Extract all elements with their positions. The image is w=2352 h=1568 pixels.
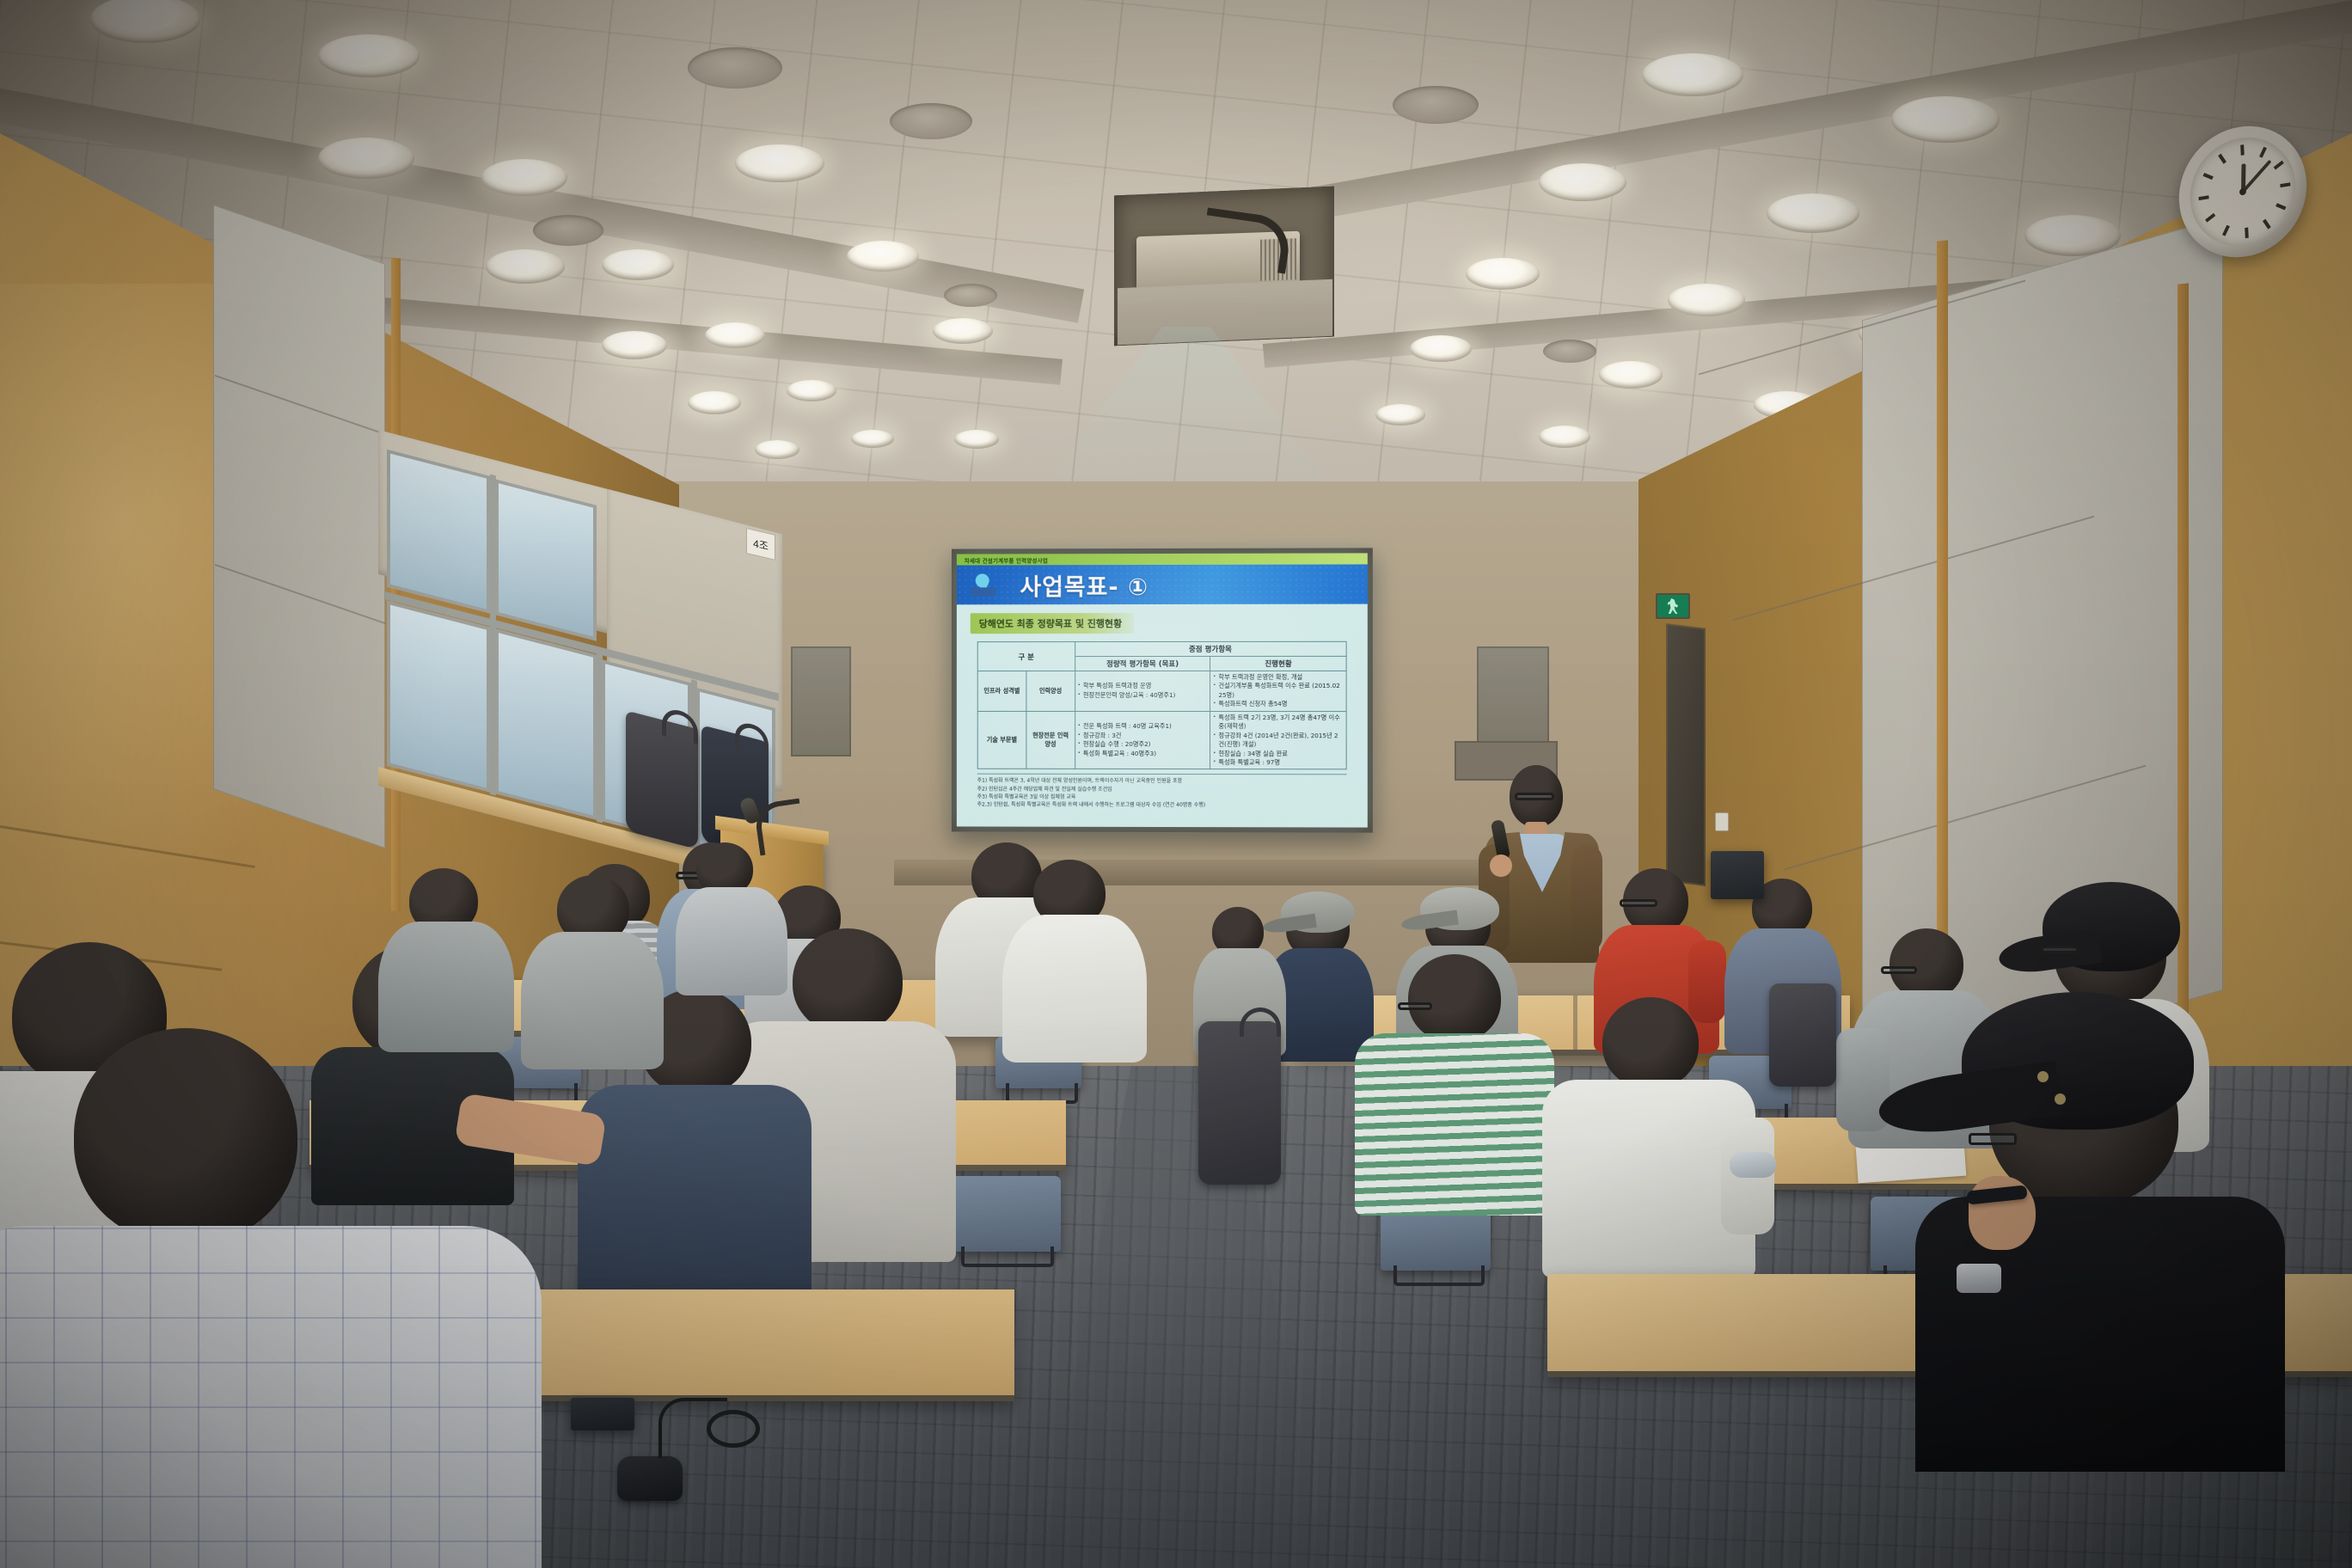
table-row: 기술 부문별 현장전문 인력 양성 전운 특성화 트랙 : 40명 교육주1) … [977, 711, 1346, 769]
backpack [626, 710, 698, 849]
head [74, 1028, 297, 1243]
slide-title-text: 사업목표- ① [1020, 568, 1148, 602]
torso [0, 1226, 542, 1568]
presenter-hand [1490, 854, 1512, 877]
row-subdivision: 인력양성 [1026, 671, 1075, 712]
excavator-logo-icon [967, 570, 1001, 599]
clock-tick [2245, 228, 2249, 239]
cap-eyelet [2055, 1093, 2066, 1105]
clock-tick [2275, 203, 2286, 210]
list-item: 학부 특성화 트랙과정 운영 [1078, 682, 1208, 690]
torso [1355, 1033, 1554, 1216]
clock-tick [2274, 161, 2284, 170]
clock-tick [2259, 147, 2267, 158]
acoustic-panel [791, 646, 851, 756]
row-division: 기술 부문별 [977, 711, 1026, 769]
downlight [954, 430, 999, 449]
row-quantitative: 전운 특성화 트랙 : 40명 교육주1) 정규강좌 : 3건 현장실습 수행 … [1075, 711, 1210, 769]
head [1408, 954, 1501, 1042]
backpack-on-chair [1769, 983, 1836, 1087]
snapback-cap-icon [2043, 882, 2180, 971]
left-wall-grey-panel [213, 205, 385, 848]
downlight [933, 318, 993, 344]
snapback-cap-icon [1962, 992, 2194, 1130]
row-progress: 학부 트랙과정 운영안 확정, 개설 건설기계부품 특성화트랙 이수 완료 (2… [1210, 671, 1346, 711]
audience-member-black-cap-front [1924, 982, 2285, 1463]
clock-face [2188, 130, 2299, 254]
slide-subtitle: 당해연도 최종 정량목표 및 진행현황 [971, 613, 1134, 634]
clock-tick [2240, 144, 2245, 156]
footnote: 주1) 특성화 트랙은 3, 4학년 대상 전체 양성인원이며, 트랙이수자가 … [977, 777, 1347, 786]
projector-access-panel [1118, 279, 1332, 345]
ceiling-speaker [1393, 86, 1479, 124]
clock-tick [2202, 173, 2213, 180]
clock-tick [2263, 219, 2271, 230]
torso [521, 932, 664, 1069]
list-item: 전운 특성화 트랙 : 40명 교육주1) [1078, 722, 1208, 732]
list-item: 특성화트랙 신청자 총54명 [1213, 700, 1343, 708]
mouse-cable [658, 1398, 727, 1458]
slide-ribbon-label: 차세대 건설기계부품 인력양성사업 [957, 555, 1048, 564]
table-header-top: 중점 평가항목 [1075, 641, 1346, 656]
list-item: 특성화 특별교육 : 97명 [1213, 758, 1343, 768]
slide-footnotes: 주1) 특성화 트랙은 3, 4학년 대상 전체 양성인원이며, 트랙이수자가 … [977, 774, 1347, 810]
row-subdivision: 현장전문 인력 양성 [1026, 711, 1075, 769]
torso [578, 1085, 812, 1315]
row-quantitative: 학부 특성화 트랙과정 운영 현장전문인력 양성/교육 : 40명주1) [1075, 671, 1210, 711]
list-item: 현장전문인력 양성/교육 : 40명주1) [1078, 691, 1208, 700]
clock-minute-hand [2242, 160, 2272, 193]
list-item: 특성화 트랙 2기 23명, 3기 24명 총47명 이수중(재학생) [1213, 714, 1343, 732]
slide-title-bar: 사업목표- ① [957, 564, 1368, 604]
window-mullion [490, 475, 496, 796]
slide-title-dot-pattern [957, 564, 1368, 604]
light-switch[interactable] [1715, 812, 1729, 831]
torso [378, 922, 514, 1052]
glasses [2041, 946, 2079, 953]
window-pane-upper-left [387, 450, 490, 614]
audience-member-green-striped [1346, 954, 1561, 1212]
glasses [1398, 1002, 1432, 1010]
window-pane-upper-mid [495, 479, 597, 641]
torso [1915, 1197, 2285, 1472]
running-man-icon [1668, 598, 1679, 614]
table-row: 인프라 성격별 인력양성 학부 특성화 트랙과정 운영 현장전문인력 양성/교육… [977, 671, 1346, 711]
footnote: 주2,3) 인턴쉽, 특성화 특별교육은 특성화 트랙 내에서 수행하는 프로그… [977, 801, 1347, 810]
presenter-glasses [1515, 793, 1554, 800]
glasses [1881, 966, 1917, 974]
table-header-row: 구 분 중점 평가항목 [977, 641, 1346, 656]
presentation-slide: 차세대 건설기계부품 인력양성사업 사업목표- ① 당해연도 최종 정량목표 및… [957, 553, 1368, 827]
downlight [1375, 404, 1425, 426]
glasses [1969, 1133, 2017, 1145]
list-item: 학부 트랙과정 운영안 확정, 개설 [1213, 673, 1343, 682]
clock-tick [2199, 195, 2209, 200]
slide-ribbon: 차세대 건설기계부품 인력양성사업 [957, 553, 1368, 565]
list-item: 현장실습 수행 : 20명주2) [1078, 740, 1208, 750]
ceiling-speaker [944, 284, 997, 307]
downlight [1410, 335, 1472, 362]
head [1602, 997, 1699, 1088]
table-col-division: 구 분 [977, 642, 1075, 671]
right-wall-wood-strip [1937, 240, 1948, 1014]
audience-member-white-longsleeve [1002, 860, 1148, 1057]
baseball-cap-icon [1281, 891, 1355, 933]
side-door[interactable] [1666, 623, 1706, 886]
cap-eyelet [2037, 1071, 2049, 1082]
audience-member-grey-polo-window [512, 875, 667, 1064]
window-pane-lower-mid [495, 628, 597, 820]
list-item: 건설기계부품 특성화트랙 이수 완료 (2015.02 25명) [1213, 682, 1343, 700]
clock-tick [2218, 154, 2226, 164]
front-monitor [1711, 851, 1764, 899]
list-item: 정규강좌 : 3건 [1078, 732, 1208, 741]
wristwatch [1957, 1264, 2001, 1293]
torso [676, 887, 787, 995]
head [793, 928, 903, 1033]
audience-member-far-left-window [375, 868, 521, 1049]
baseball-cap-icon [1420, 887, 1499, 930]
audience-member-white-tee-mid [1539, 997, 1762, 1272]
table-col-quantitative: 정량적 평가항목 (목표) [1075, 656, 1210, 671]
exit-sign [1656, 593, 1690, 619]
list-item: 정규강좌 4건 (2014년 2건(완료), 2015년 2건(진행) 개설) [1213, 732, 1343, 750]
computer-mouse [617, 1456, 683, 1501]
window-pane-lower-left [387, 601, 490, 793]
desk-device [571, 1398, 634, 1430]
list-item: 현장실습 : 34명 실습 완료 [1213, 750, 1343, 759]
audience-member-back-left-pair [676, 842, 796, 989]
torso [1002, 915, 1147, 1063]
glasses [1620, 899, 1657, 907]
projection-screen: 차세대 건설기계부품 인력양성사업 사업목표- ① 당해연도 최종 정량목표 및… [952, 548, 1373, 832]
mouse-device [1730, 1152, 1776, 1178]
clock-tick [2280, 182, 2290, 187]
row-progress: 특성화 트랙 2기 23명, 3기 24명 총47명 이수중(재학생) 정규강좌… [1210, 711, 1346, 769]
seminar-room-photo: 4조 차세대 건설기계부품 인력양성사업 사업목표- ① 당해연도 최종 정량목… [0, 0, 2352, 1568]
clock-center-pin [2239, 187, 2246, 195]
list-item: 특성화 특별교육 : 40명주3) [1078, 749, 1208, 758]
slide-table: 구 분 중점 평가항목 정량적 평가항목 (목표) 진행현황 인프라 성격별 인… [977, 641, 1347, 770]
table-col-progress: 진행현황 [1210, 656, 1346, 671]
backpack-on-floor [1198, 1021, 1281, 1185]
row-division: 인프라 성격별 [977, 671, 1026, 712]
window-mullion [597, 652, 603, 824]
clock-tick [2205, 213, 2215, 223]
chair [947, 1176, 1061, 1252]
clock-tick [2222, 225, 2230, 236]
